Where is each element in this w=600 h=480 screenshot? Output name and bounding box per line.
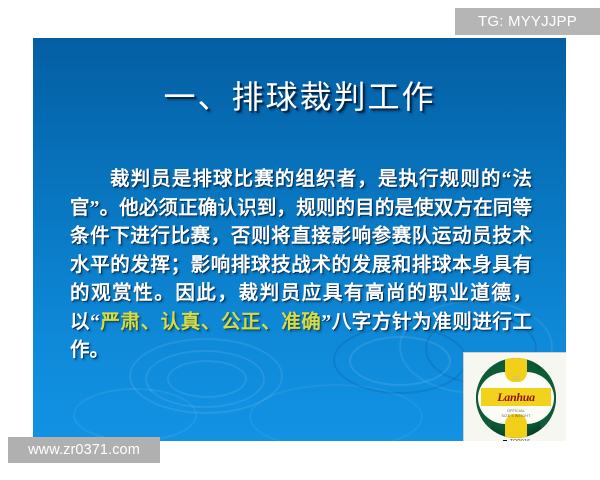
slide-title: 一、排球裁判工作 <box>33 80 566 115</box>
volleyball-sub-line-1: OFFICIAL <box>476 409 556 413</box>
volleyball-graphic: CE Lanhua OFFICIAL SIZE 5 WEIGHT <box>476 358 556 438</box>
ripple-decoration <box>167 360 247 398</box>
volleyball-top-mark: CE <box>476 376 556 382</box>
ripple-decoration <box>249 384 423 441</box>
site-url-watermark: www.zr0371.com <box>8 437 160 463</box>
volleyball-image: CE Lanhua OFFICIAL SIZE 5 WEIGHT TOP016 <box>463 352 566 441</box>
volleyball-sub-line-2: SIZE 5 WEIGHT <box>476 414 556 418</box>
body-text-highlight: 严肃、认真、公正、准确 <box>100 312 322 333</box>
volleyball-brand-band: Lanhua <box>481 388 551 406</box>
slide-body-paragraph: 裁判员是排球比赛的组织者，是执行规则的“法官”。他必须正确认识到，规则的目的是使… <box>70 166 532 366</box>
ripple-decoration <box>73 388 197 441</box>
volleyball-brand-text: Lanhua <box>497 391 535 403</box>
body-text-part-1: 裁判员是排球比赛的组织者，是执行规则的“法官”。他必须正确认识到，规则的目的是使… <box>70 169 532 333</box>
caption-text: TOP016 <box>510 439 530 441</box>
caption-bullet-icon <box>503 440 507 441</box>
page-canvas: 一、排球裁判工作 裁判员是排球比赛的组织者，是执行规则的“法官”。他必须正确认识… <box>0 0 600 480</box>
presentation-slide: 一、排球裁判工作 裁判员是排球比赛的组织者，是执行规则的“法官”。他必须正确认识… <box>33 38 566 441</box>
telegram-watermark: TG: MYYJJPP <box>455 8 600 35</box>
volleyball-caption: TOP016 <box>464 439 566 441</box>
